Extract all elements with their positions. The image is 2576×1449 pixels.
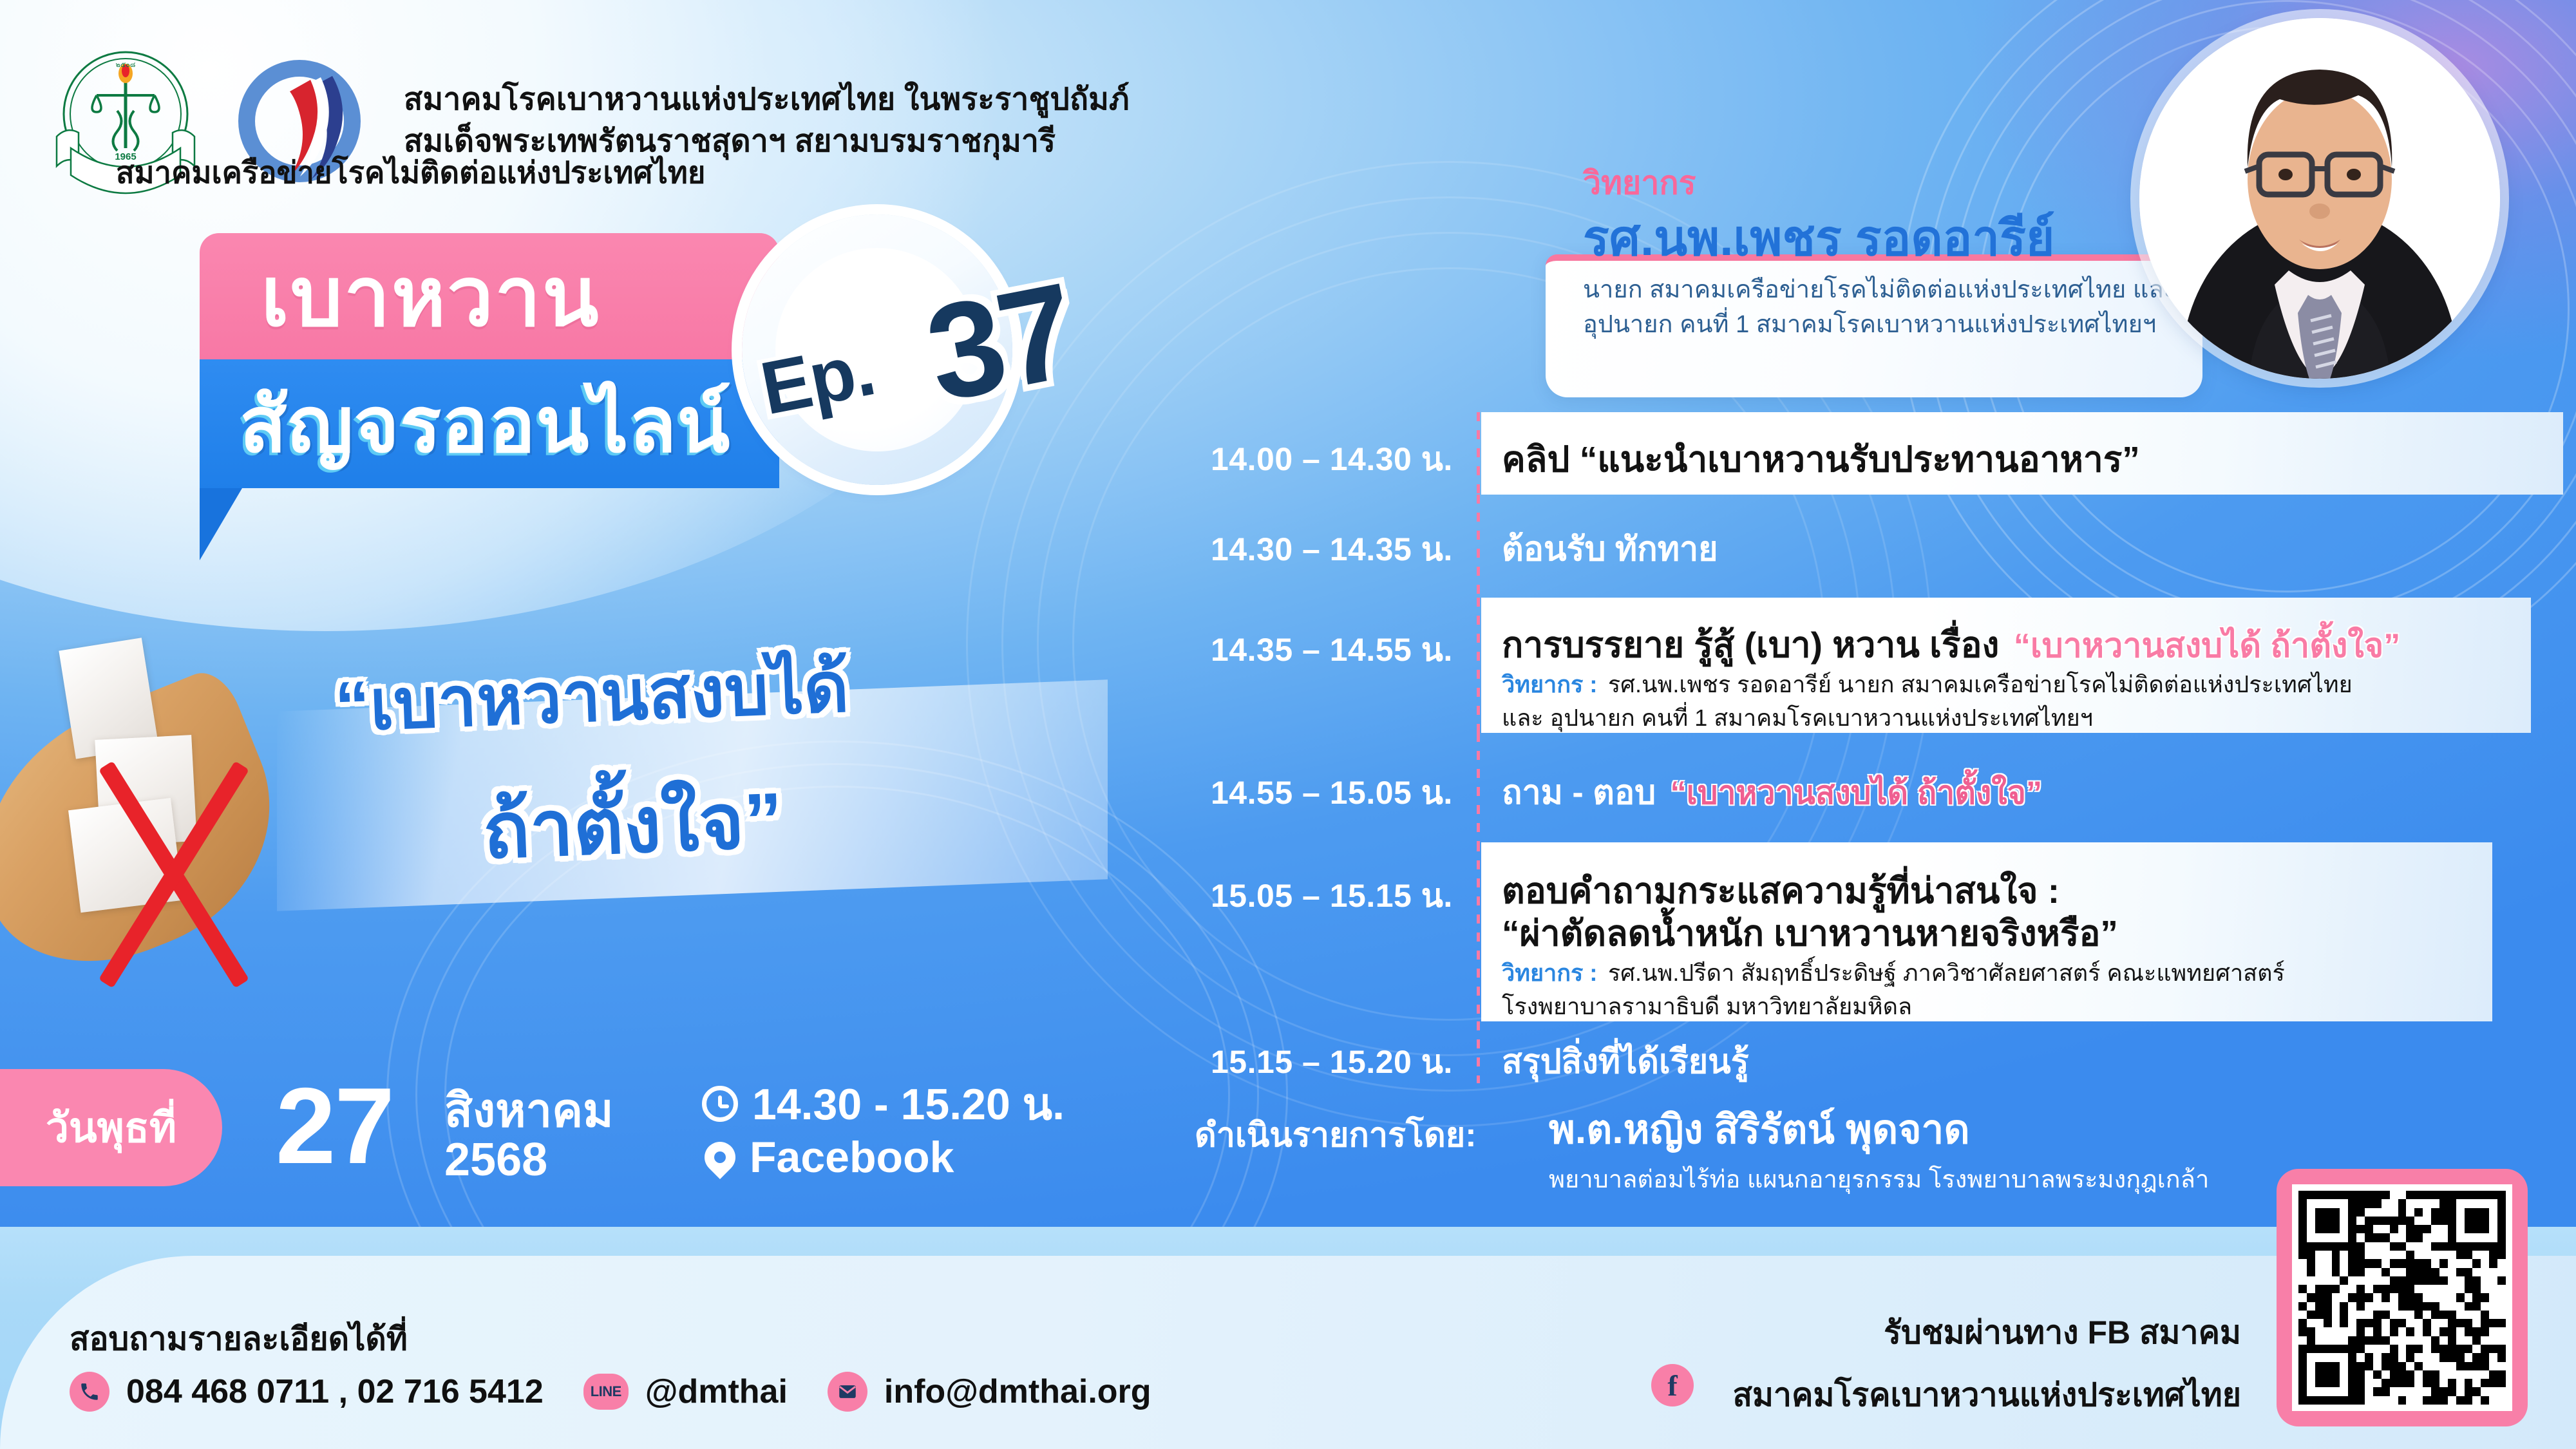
slogan-line-1: “เบาหวานสงบได้ bbox=[333, 631, 851, 762]
poster-canvas: 1965 ๒๕๐๘ สมาคมโรคเบาหวานแห่งประเทศไทย ใ… bbox=[0, 0, 2576, 1449]
schedule-row-separator bbox=[1477, 412, 1480, 495]
title-banner-pink: เบาหวาน bbox=[200, 233, 779, 359]
clock-icon bbox=[702, 1086, 738, 1122]
event-platform: Facebook bbox=[750, 1132, 954, 1182]
schedule-topic-title: ตอบคำถามกระแสความรู้ที่น่าสนใจ : bbox=[1502, 871, 2060, 911]
title-banner-tail bbox=[200, 488, 242, 560]
schedule-speaker-line-2: และ อุปนายก คนที่ 1 สมาคมโรคเบาหวานแห่งป… bbox=[1502, 699, 2093, 736]
schedule-row-separator bbox=[1477, 1021, 1480, 1083]
qr-code-inner bbox=[2292, 1184, 2512, 1411]
schedule-time: 14.30 – 14.35 น. bbox=[1211, 524, 1453, 575]
slogan-line-2: ถ้าตั้งใจ” bbox=[481, 757, 785, 892]
schedule-speaker-line-1: วิทยากร : รศ.นพ.ปรีดา สัมฤทธิ์ประดิษฐ์ ภ… bbox=[1502, 954, 2285, 991]
schedule-topic: คลิป “แนะนำเบาหวานรับประทานอาหาร” bbox=[1502, 431, 2140, 488]
schedule-topic: ถาม - ตอบ “เบาหวานสงบได้ ถ้าตั้งใจ” bbox=[1502, 765, 2042, 819]
line-icon: LINE bbox=[583, 1374, 629, 1410]
speaker-photo bbox=[2139, 18, 2500, 379]
schedule-topic: ต้อนรับ ทักทาย bbox=[1502, 522, 1718, 575]
title-line-1: เบาหวาน bbox=[261, 231, 600, 362]
footer-contact-title: สอบถามรายละเอียดได้ที่ bbox=[70, 1314, 408, 1365]
date-day-number: 27 bbox=[276, 1064, 393, 1188]
speaker-affiliation-line-1: นายก สมาคมเครือข่ายโรคไม่ติดต่อแห่งประเท… bbox=[1583, 269, 2177, 308]
schedule-speaker-line-2: โรงพยาบาลรามาธิบดี มหาวิทยาลัยมหิดล bbox=[1502, 988, 1912, 1025]
phone-icon bbox=[70, 1372, 109, 1412]
episode-badge: Ep. 37 bbox=[742, 214, 1012, 485]
schedule-topic-title: คลิป “แนะนำเบาหวานรับประทานอาหาร” bbox=[1502, 439, 2140, 479]
schedule-speaker-label: วิทยากร : bbox=[1502, 960, 1597, 986]
schedule-speaker-text: โรงพยาบาลรามาธิบดี มหาวิทยาลัยมหิดล bbox=[1502, 993, 1912, 1019]
footer-phone[interactable]: 084 468 0711 , 02 716 5412 bbox=[126, 1372, 544, 1411]
episode-number: 37 bbox=[915, 252, 1085, 433]
speaker-name: รศ.นพ.เพชร รอดอารีย์ bbox=[1583, 200, 2054, 277]
qr-code[interactable] bbox=[2277, 1169, 2528, 1426]
footer-watch-info: รับชมผ่านทาง FB สมาคม สมาคมโรคเบาหวานแห่… bbox=[1732, 1307, 2241, 1421]
date-time-bar: วันพุธที่ 27 สิงหาคม 2568 14.30 - 15.20 … bbox=[0, 1055, 1133, 1203]
schedule-speaker-text: รศ.นพ.ปรีดา สัมฤทธิ์ประดิษฐ์ ภาควิชาศัลย… bbox=[1608, 960, 2285, 986]
footer-line-id[interactable]: @dmthai bbox=[645, 1372, 788, 1411]
schedule-topic-title: ถาม - ตอบ bbox=[1502, 774, 1656, 811]
schedule-topic-highlight: “เบาหวานสงบได้ ถ้าตั้งใจ” bbox=[1671, 775, 2042, 811]
schedule-row-separator bbox=[1477, 598, 1480, 733]
schedule-topic-second-line: “ผ่าตัดลดน้ำหนัก เบาหวานหายจริงหรือ” bbox=[1502, 905, 2118, 961]
event-time-row: 14.30 - 15.20 น. bbox=[702, 1069, 1065, 1139]
date-year: 2568 bbox=[444, 1133, 547, 1186]
schedule-speaker-text: รศ.นพ.เพชร รอดอารีย์ นายก สมาคมเครือข่าย… bbox=[1608, 671, 2353, 697]
schedule-speaker-text: และ อุปนายก คนที่ 1 สมาคมโรคเบาหวานแห่งป… bbox=[1502, 705, 2093, 731]
org-line-1: สมาคมโรคเบาหวานแห่งประเทศไทย ในพระราชูปถ… bbox=[404, 79, 1130, 120]
title-banner-blue: สัญจรออนไลน์ bbox=[200, 359, 779, 488]
schedule-topic-title-2: “ผ่าตัดลดน้ำหนัก เบาหวานหายจริงหรือ” bbox=[1502, 913, 2118, 953]
qr-code-modules bbox=[2298, 1191, 2506, 1405]
title-line-2: สัญจรออนไลน์ bbox=[240, 363, 730, 486]
weekday-pill: วันพุธที่ bbox=[0, 1069, 222, 1186]
schedule-row-separator bbox=[1477, 842, 1480, 1021]
schedule-topic: สรุปสิ่งที่ได้เรียนรู้ bbox=[1502, 1034, 1749, 1088]
schedule-time: 15.05 – 15.15 น. bbox=[1211, 871, 1453, 922]
location-pin-icon bbox=[698, 1135, 742, 1179]
facebook-icon[interactable]: f bbox=[1651, 1364, 1694, 1406]
red-cross-mark bbox=[45, 750, 303, 1008]
schedule-time: 14.35 – 14.55 น. bbox=[1211, 625, 1453, 676]
schedule-time: 14.55 – 15.05 น. bbox=[1211, 768, 1453, 819]
footer-watch-line-2: สมาคมโรคเบาหวานแห่งประเทศไทย bbox=[1732, 1370, 2241, 1421]
speaker-affiliation-line-2: อุปนายก คนที่ 1 สมาคมโรคเบาหวานแห่งประเท… bbox=[1583, 304, 2156, 343]
moderator-label: ดำเนินรายการโดย: bbox=[1195, 1108, 1477, 1161]
schedule-topic-title: สรุปสิ่งที่ได้เรียนรู้ bbox=[1502, 1043, 1749, 1081]
weekday-label: วันพุธที่ bbox=[46, 1095, 176, 1160]
svg-text:๒๕๐๘: ๒๕๐๘ bbox=[116, 61, 136, 69]
schedule-time: 15.15 – 15.20 น. bbox=[1211, 1037, 1453, 1088]
event-time: 14.30 - 15.20 น. bbox=[752, 1069, 1065, 1139]
footer-email[interactable]: info@dmthai.org bbox=[884, 1372, 1151, 1411]
schedule-topic-title: การบรรยาย รู้สู้ (เบา) หวาน เรื่อง bbox=[1502, 625, 1999, 665]
schedule-list: 14.00 – 14.30 น. คลิป “แนะนำเบาหวานรับปร… bbox=[1211, 412, 2563, 1082]
event-platform-row: Facebook bbox=[702, 1132, 954, 1182]
footer-contact-row: 084 468 0711 , 02 716 5412 LINE @dmthai … bbox=[70, 1372, 1151, 1412]
title-subtitle: สมาคมเครือข่ายโรคไม่ติดต่อแห่งประเทศไทย bbox=[116, 148, 705, 196]
schedule-row-separator bbox=[1477, 733, 1480, 842]
schedule-topic-title: ต้อนรับ ทักทาย bbox=[1502, 531, 1718, 568]
moderator-affiliation: พยาบาลต่อมไร้ท่อ แผนกอายุรกรรม โรงพยาบาล… bbox=[1549, 1159, 2209, 1198]
schedule-row-separator bbox=[1477, 495, 1480, 598]
schedule-speaker-line-1: วิทยากร : รศ.นพ.เพชร รอดอารีย์ นายก สมาค… bbox=[1502, 666, 2353, 703]
footer-watch-line-1: รับชมผ่านทาง FB สมาคม bbox=[1732, 1307, 2241, 1358]
schedule-topic: การบรรยาย รู้สู้ (เบา) หวาน เรื่อง “เบาห… bbox=[1502, 617, 2400, 673]
schedule-time: 14.00 – 14.30 น. bbox=[1211, 434, 1453, 485]
schedule-speaker-label: วิทยากร : bbox=[1502, 671, 1597, 697]
email-icon bbox=[828, 1372, 867, 1412]
moderator-name: พ.ต.หญิง สิริรัตน์ พุดจาด bbox=[1549, 1098, 1970, 1161]
schedule-topic-highlight: “เบาหวานสงบได้ ถ้าตั้งใจ” bbox=[2014, 627, 2400, 665]
